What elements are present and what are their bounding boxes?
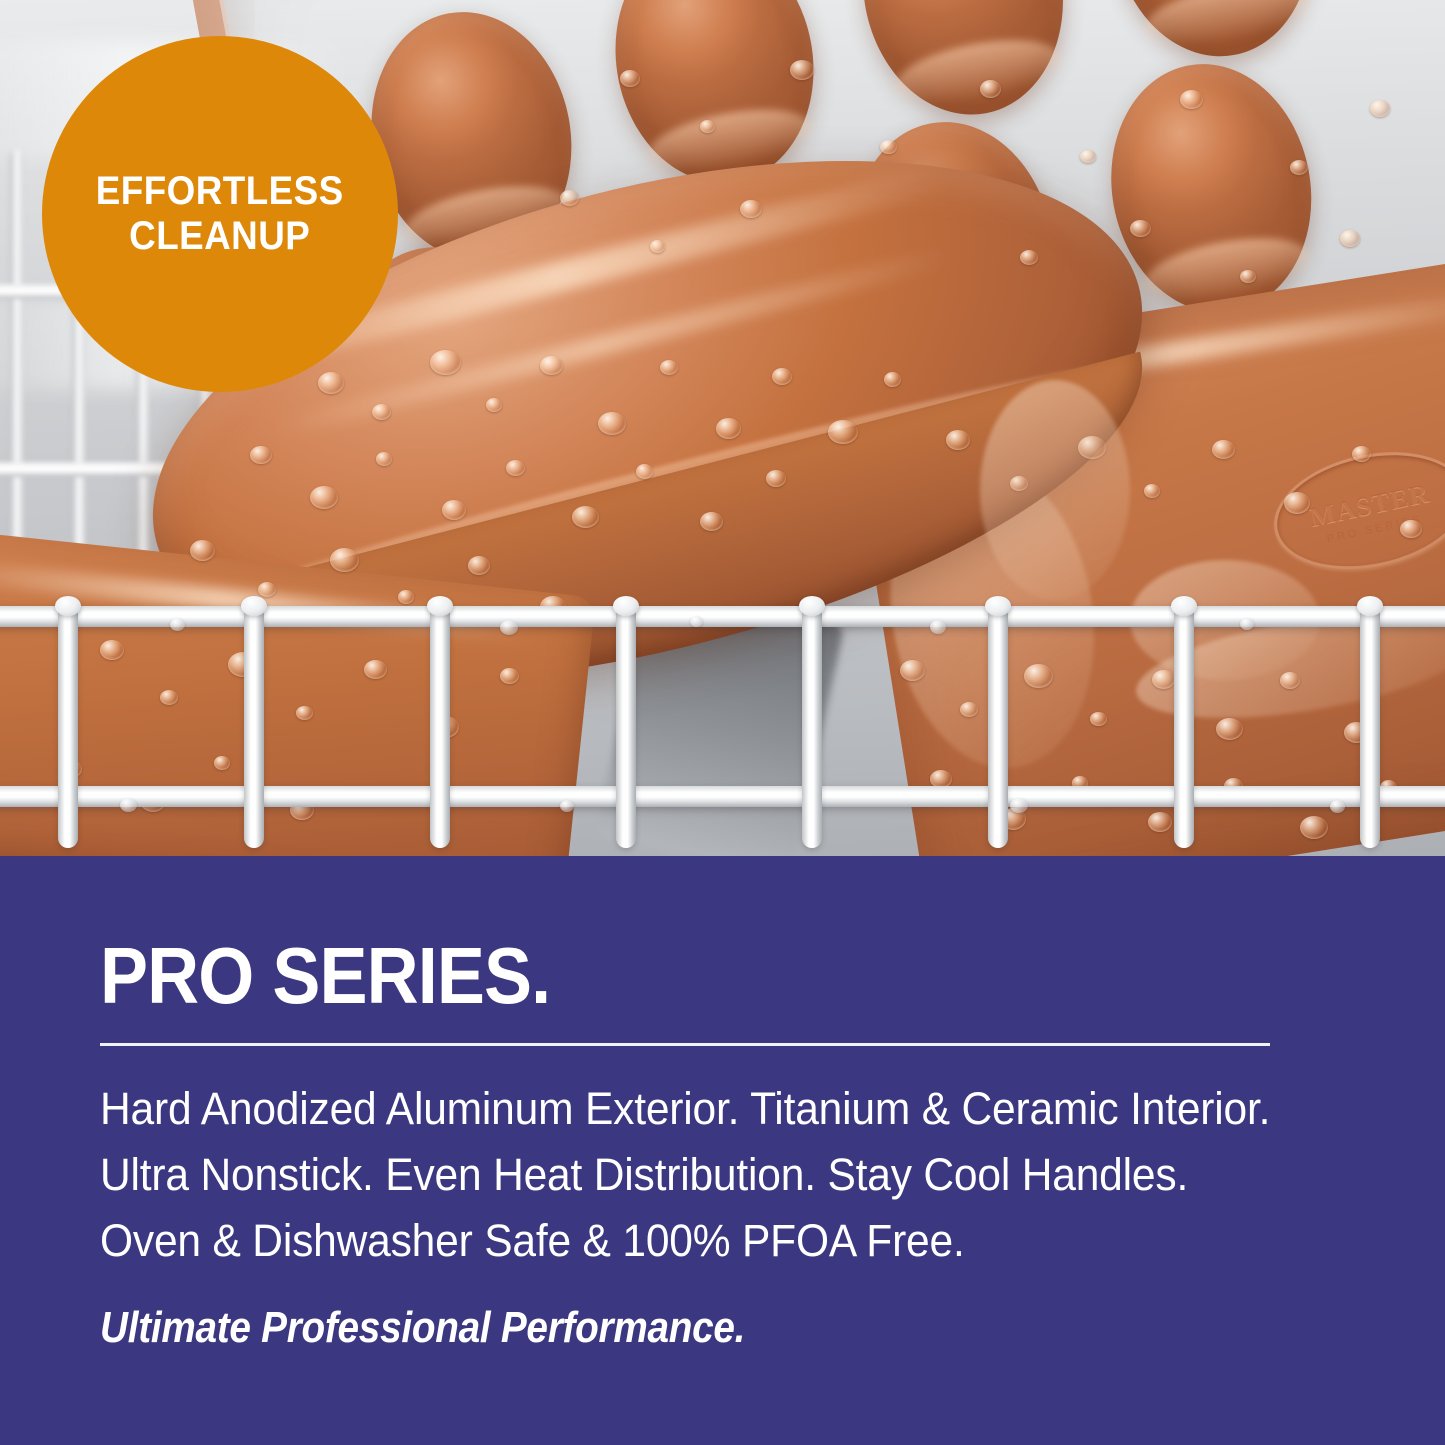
feature-description: Hard Anodized Aluminum Exterior. Titaniu…: [100, 1076, 1277, 1273]
effortless-cleanup-badge: EFFORTLESS CLEANUP: [42, 36, 398, 392]
page-title: PRO SERIES.: [100, 938, 1221, 1013]
info-panel: PRO SERIES. Hard Anodized Aluminum Exter…: [0, 856, 1445, 1445]
badge-label: EFFORTLESS CLEANUP: [96, 169, 344, 259]
tagline: Ultimate Professional Performance.: [100, 1303, 1196, 1353]
brand-emboss-medallion: MASTER PRO SERIES: [1263, 436, 1445, 586]
product-ad-canvas: MASTER PRO SERIES: [0, 0, 1445, 1445]
title-divider: [100, 1043, 1270, 1046]
water-smear: [1129, 595, 1445, 737]
